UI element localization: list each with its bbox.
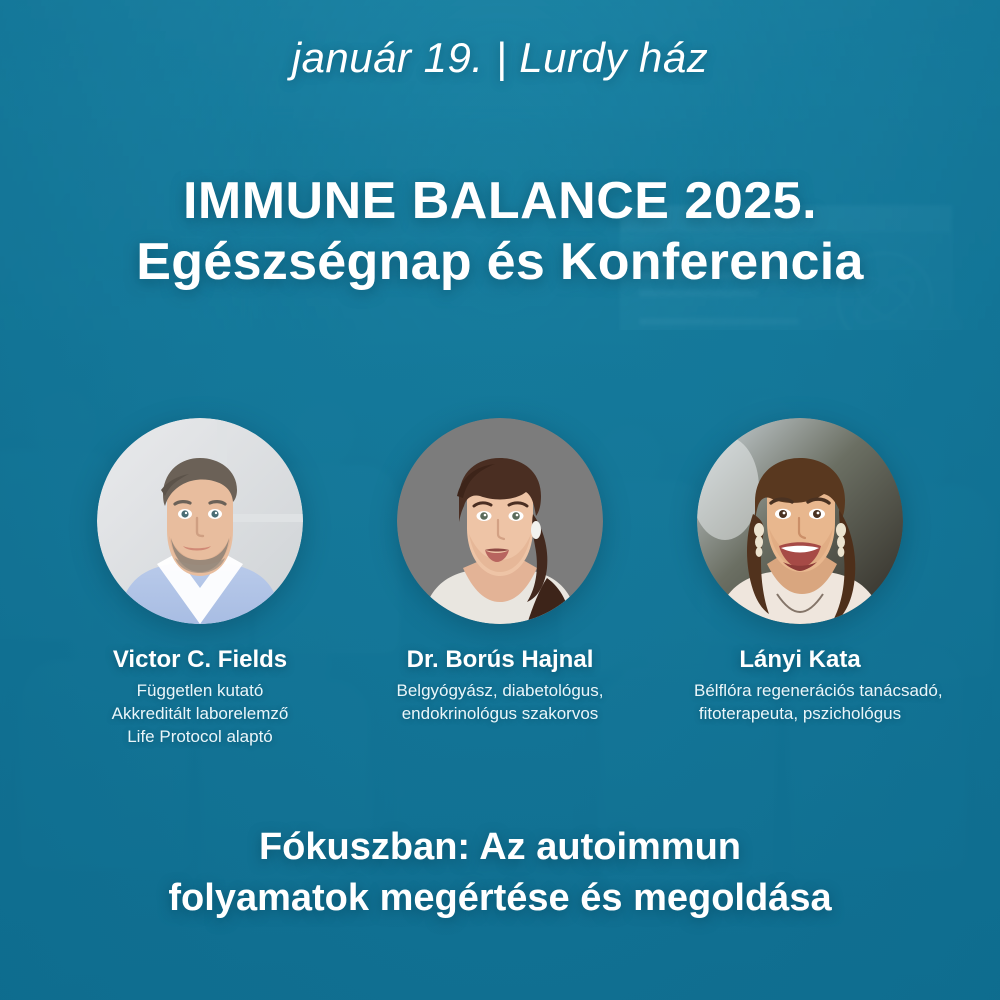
speaker-role: Bélflóra regenerációs tanácsadó, fitoter…: [694, 680, 906, 726]
speaker-name: Victor C. Fields: [94, 646, 306, 674]
speaker-role-line: Life Protocol alaptó: [94, 726, 306, 749]
speaker-role-line: endokrinológus szakorvos: [394, 703, 606, 726]
focus-line-2: folyamatok megértése és megoldása: [0, 873, 1000, 924]
focus-tagline: Fókuszban: Az autoimmun folyamatok megér…: [0, 822, 1000, 925]
speaker-role-line: Független kutató: [94, 680, 306, 703]
speaker-card: Dr. Borús Hajnal Belgyógyász, diabetológ…: [394, 418, 606, 726]
title-line-1: IMMUNE BALANCE 2025.: [0, 172, 1000, 230]
avatar: [97, 418, 303, 624]
speaker-role-line: Akkreditált laborelemző: [94, 703, 306, 726]
speaker-role-line: Bélflóra regenerációs tanácsadó,: [694, 680, 906, 703]
date-venue-line: január 19. | Lurdy ház: [0, 34, 1000, 82]
speaker-list: Victor C. Fields Független kutató Akkred…: [0, 418, 1000, 768]
avatar: [697, 418, 903, 624]
portrait-victor-c-fields: [97, 418, 303, 624]
speaker-name: Lányi Kata: [694, 646, 906, 674]
title-line-2: Egészségnap és Konferencia: [0, 230, 1000, 295]
speaker-role-line: fitoterapeuta, pszichológus: [694, 703, 906, 726]
avatar: [397, 418, 603, 624]
speaker-card: Lányi Kata Bélflóra regenerációs tanácsa…: [694, 418, 906, 726]
speaker-role-line: Belgyógyász, diabetológus,: [394, 680, 606, 703]
portrait-lanyi-kata: [697, 418, 903, 624]
event-poster: január 19. | Lurdy ház IMMUNE BALANCE 20…: [0, 0, 1000, 1000]
speaker-role: Belgyógyász, diabetológus, endokrinológu…: [394, 680, 606, 726]
speaker-card: Victor C. Fields Független kutató Akkred…: [94, 418, 306, 749]
speaker-role: Független kutató Akkreditált laborelemző…: [94, 680, 306, 749]
focus-line-1: Fókuszban: Az autoimmun: [0, 822, 1000, 873]
page-title: IMMUNE BALANCE 2025. Egészségnap és Konf…: [0, 172, 1000, 295]
portrait-dr-borus-hajnal: [397, 418, 603, 624]
speaker-name: Dr. Borús Hajnal: [394, 646, 606, 674]
